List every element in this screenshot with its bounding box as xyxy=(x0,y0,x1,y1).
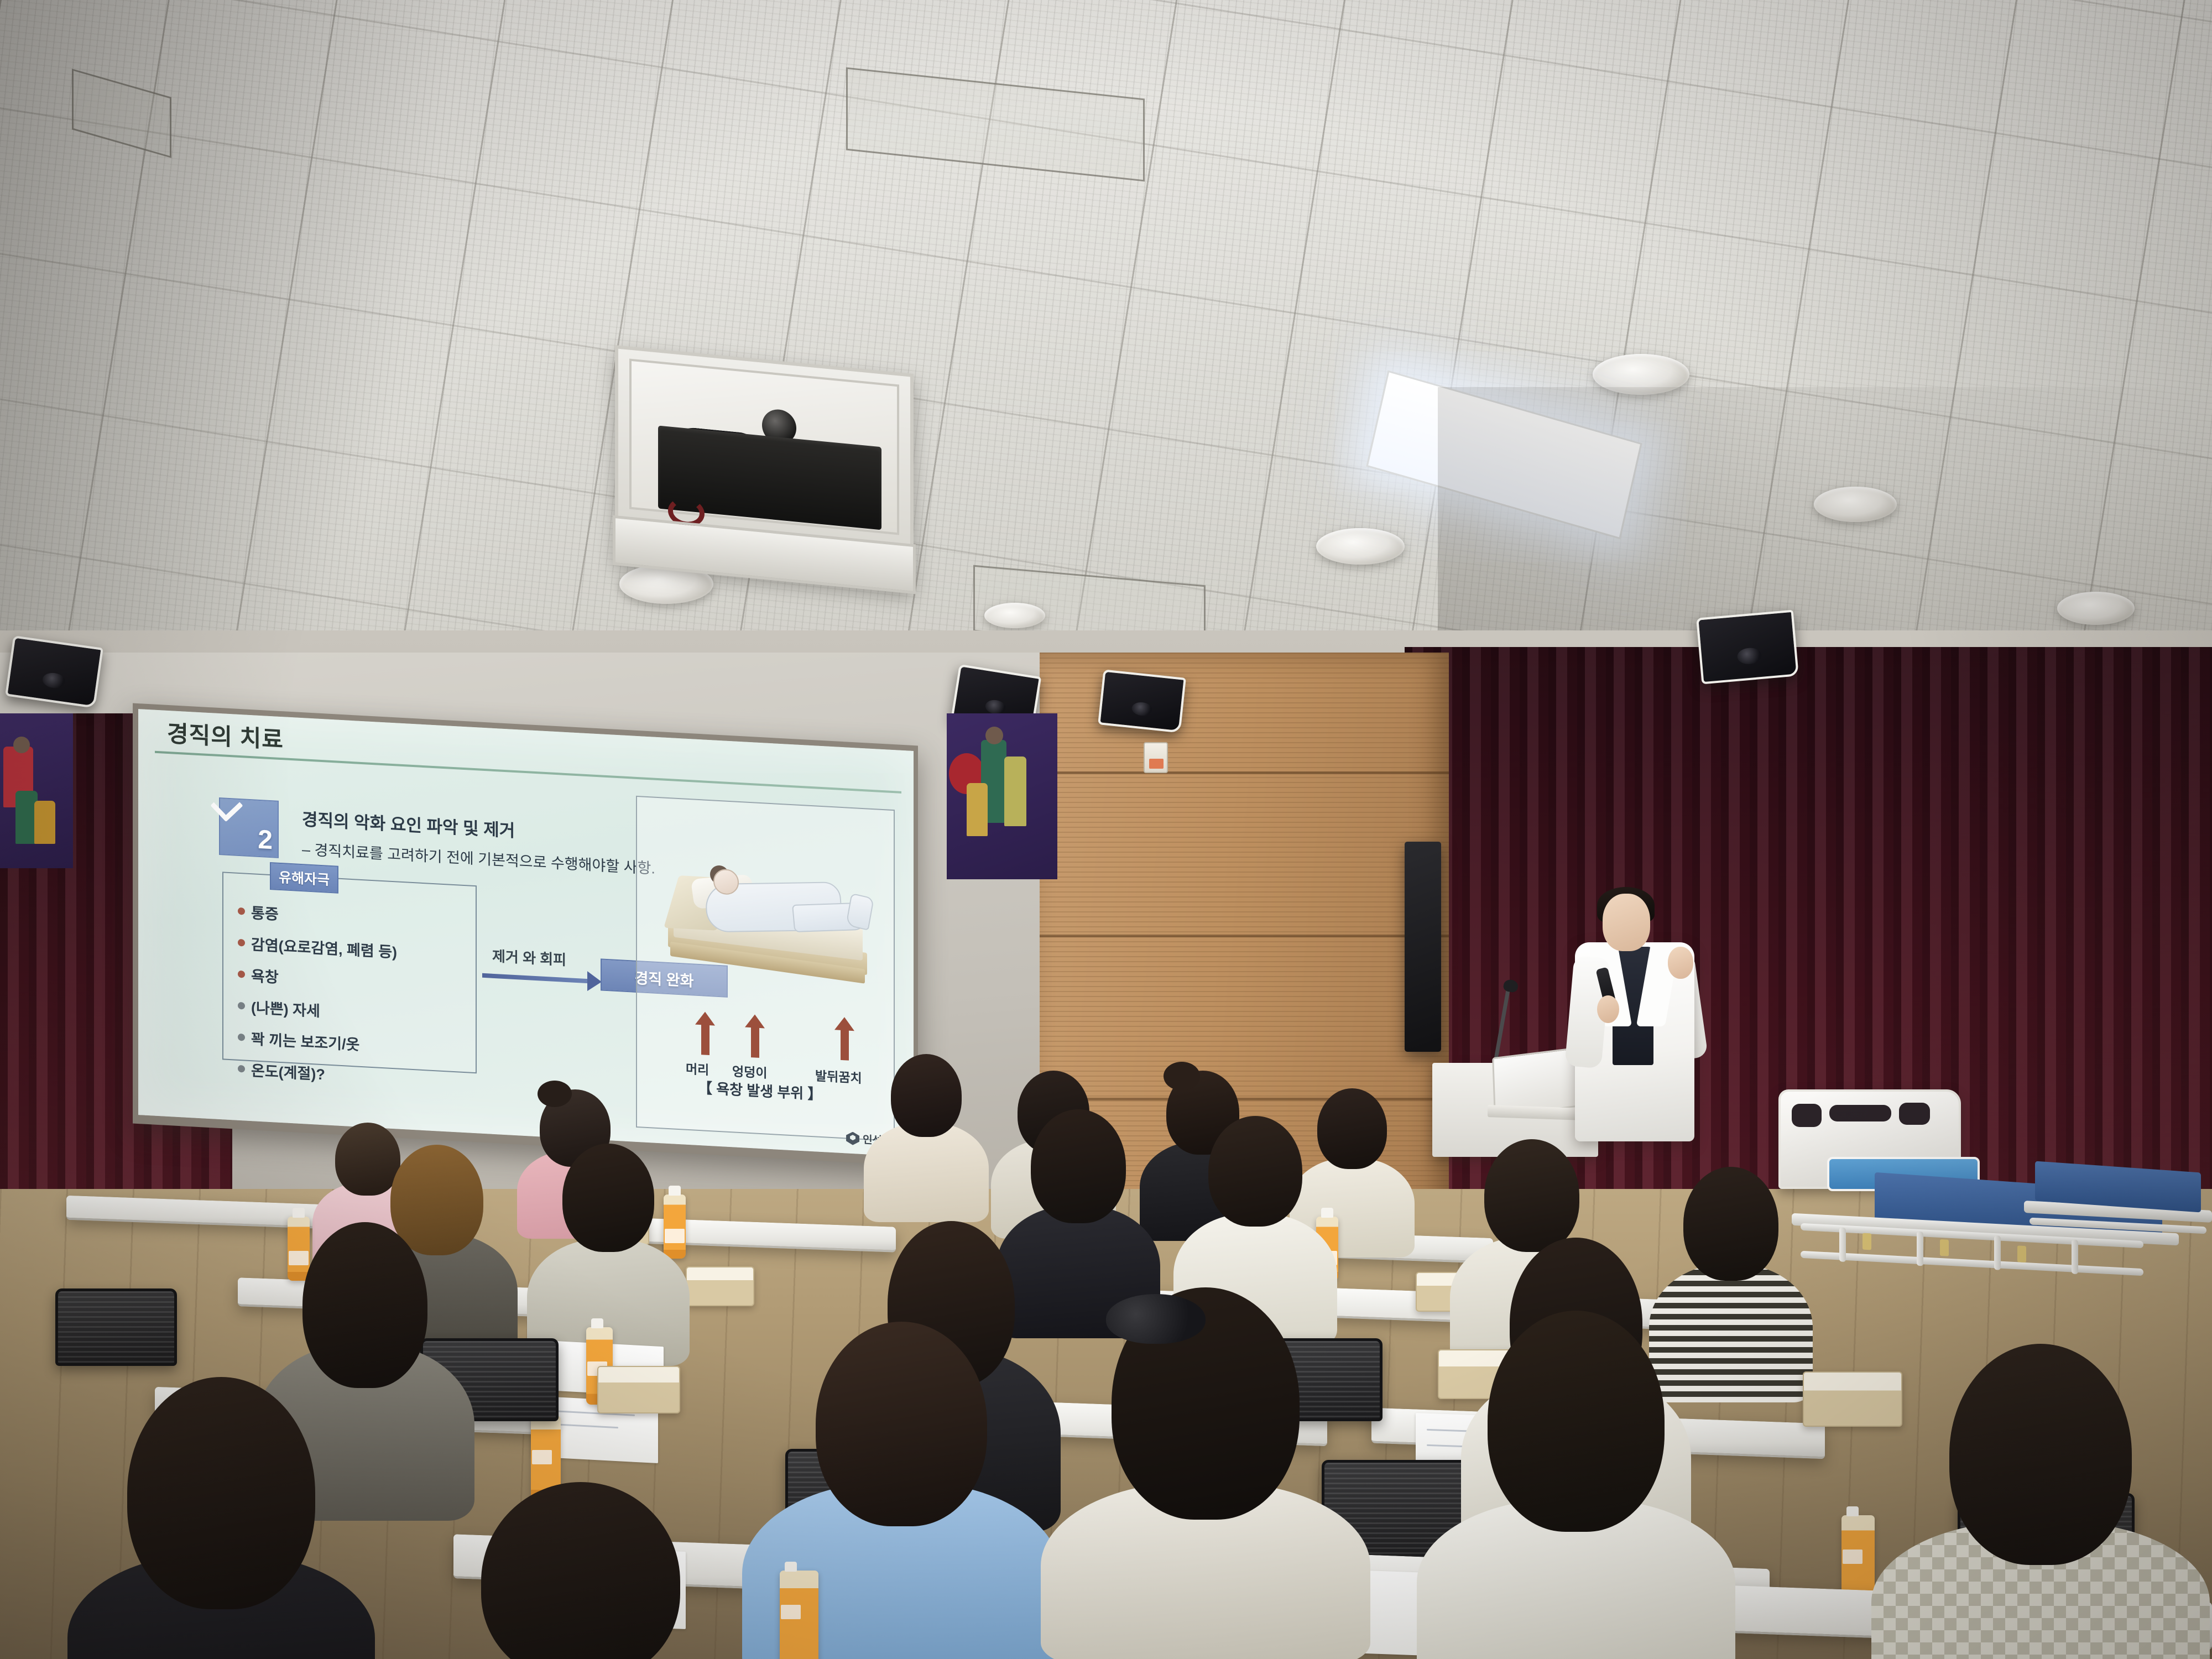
attendee-head xyxy=(1208,1116,1302,1227)
attendee-hair-bun xyxy=(538,1081,572,1107)
flow-arrow-line xyxy=(482,973,591,984)
mural2-child-1 xyxy=(967,783,988,836)
step-number-box: 2 xyxy=(219,797,279,858)
hair-bow xyxy=(1106,1294,1206,1344)
wall-speaker-3 xyxy=(1098,669,1186,733)
illustration-panel: 머리 엉덩이 발뒤꿈치 【 욕창 발생 부위 】 xyxy=(636,796,895,1141)
bullet-list: 통증 감염(요로감염, 폐렴 등) 욕창 (나쁜) 자세 xyxy=(238,900,397,1098)
light-switch[interactable] xyxy=(1144,742,1168,773)
attendee-front-1 xyxy=(66,1371,376,1659)
side-rail-post-3 xyxy=(1994,1235,2001,1270)
ceiling xyxy=(0,0,2212,691)
attendee-head xyxy=(481,1482,680,1659)
slide-subheading: – 경직치료를 고려하기 전에 기본적으로 수행해야할 사항. xyxy=(302,837,655,878)
juice-bottle-9[interactable] xyxy=(780,1571,818,1659)
list-item-label: 통증 xyxy=(251,901,279,924)
list-item: 꽉 끼는 보조기/옷 xyxy=(238,1026,397,1057)
presenter-hand-right xyxy=(1668,947,1693,979)
list-item: 욕창 xyxy=(238,963,397,994)
headboard-slot-3 xyxy=(1899,1103,1930,1125)
list-item: 감염(요로감염, 폐렴 등) xyxy=(238,932,397,962)
list-item-label: 감염(요로감염, 폐렴 등) xyxy=(251,932,397,962)
patient-foot xyxy=(846,893,874,931)
list-item: 통증 xyxy=(238,900,397,931)
corner-arrow-icon xyxy=(210,789,243,822)
wood-seam-2 xyxy=(1040,935,1449,937)
list-item-label: 온도(계절)? xyxy=(251,1058,325,1084)
attendee-head xyxy=(891,1054,962,1137)
arrow-label-heel: 발뒤꿈치 xyxy=(815,1065,862,1087)
attendee-head xyxy=(562,1144,654,1252)
attendee-front-3 xyxy=(1040,1283,1371,1659)
wall-speaker-4 xyxy=(1696,610,1799,685)
bullet-dot-icon xyxy=(238,1065,245,1073)
up-arrow-icon-head xyxy=(701,1024,709,1055)
wall-speaker-1 xyxy=(5,635,103,708)
mural2-head xyxy=(985,727,1003,744)
wall-mural-left xyxy=(0,713,73,868)
attendee-front-4 xyxy=(1416,1305,1736,1659)
wood-seam-1 xyxy=(1040,771,1449,774)
floor-speaker-tower xyxy=(1405,842,1441,1052)
wall-mural-right xyxy=(947,713,1057,879)
flow-arrow-label: 제거 와 회피 xyxy=(492,945,566,969)
list-item-label: (나쁜) 자세 xyxy=(251,995,320,1021)
attendee-head xyxy=(127,1377,315,1609)
attendee-body xyxy=(864,1123,989,1222)
headboard-slot-2 xyxy=(1829,1105,1891,1121)
attendee-head xyxy=(1488,1311,1665,1532)
title-divider xyxy=(155,751,901,794)
attendee-front-6 xyxy=(409,1482,752,1659)
ceiling-projector-housing xyxy=(615,345,914,589)
list-item: (나쁜) 자세 xyxy=(238,995,397,1025)
lecture-hall-scene: 경직의 치료 2 경직의 악화 요인 파악 및 제거 – 경직치료를 고려하기 … xyxy=(0,0,2212,1659)
slide-title: 경직의 치료 xyxy=(167,715,284,755)
list-item: 온도(계절)? xyxy=(238,1058,397,1088)
list-item-label: 욕창 xyxy=(251,964,279,987)
attendee-hair-bun xyxy=(1164,1062,1200,1091)
up-arrow-icon-hip xyxy=(751,1026,759,1058)
attendee-front-5 xyxy=(1869,1338,2212,1659)
hospital-logo-icon xyxy=(846,1131,859,1145)
lunch-box-2[interactable] xyxy=(686,1266,754,1306)
rail-release-latch-1[interactable] xyxy=(1863,1233,1871,1250)
lunch-box-4[interactable] xyxy=(597,1366,680,1413)
rail-release-latch-2[interactable] xyxy=(1940,1239,1949,1256)
slide-heading: 경직의 악화 요인 파악 및 제거 xyxy=(302,805,515,842)
side-rail-post-2 xyxy=(1917,1232,1923,1266)
attendee-r2-2 xyxy=(525,1139,691,1349)
bullet-list-box: 통증 감염(요로감염, 폐렴 등) 욕창 (나쁜) 자세 xyxy=(222,872,477,1073)
attendee-head xyxy=(1949,1344,2132,1565)
projector-recess xyxy=(629,359,899,535)
ceiling-shadow-left xyxy=(0,0,498,691)
bed-illustration xyxy=(662,851,873,995)
attendee-head xyxy=(1683,1167,1778,1281)
downlight-9 xyxy=(984,603,1045,628)
flow-arrow-head-icon xyxy=(587,971,602,992)
bullet-dot-icon xyxy=(238,907,245,915)
mural-figure-yellow xyxy=(34,801,55,844)
arrow-label-head: 머리 xyxy=(686,1058,709,1078)
up-arrow-icon-heel xyxy=(841,1029,849,1061)
step-number: 2 xyxy=(258,825,273,855)
chair-6[interactable] xyxy=(55,1288,177,1366)
attendee-head xyxy=(816,1322,987,1526)
headboard-slot-1 xyxy=(1792,1104,1822,1127)
hospital-bed-secondary xyxy=(2024,1139,2212,1305)
mural2-child-2 xyxy=(1004,757,1026,826)
attendee-head xyxy=(1031,1109,1126,1223)
harmful-stimulus-badge: 유해자극 xyxy=(270,862,338,894)
list-item-label: 꽉 끼는 보조기/옷 xyxy=(251,1027,359,1055)
bullet-dot-icon xyxy=(238,1034,245,1041)
downlight-3 xyxy=(1316,528,1405,565)
attendee-r1-3 xyxy=(863,1051,990,1217)
attendee-head xyxy=(302,1222,427,1388)
side-rail-post-1 xyxy=(1839,1227,1846,1262)
mural-figure-head xyxy=(13,737,30,753)
presenter xyxy=(1565,885,1709,1172)
presenter-head xyxy=(1603,894,1650,951)
bullet-dot-icon xyxy=(238,971,245,978)
bullet-dot-icon xyxy=(238,1002,245,1010)
presenter-hand-left xyxy=(1597,995,1619,1023)
bullet-dot-icon xyxy=(238,939,245,947)
